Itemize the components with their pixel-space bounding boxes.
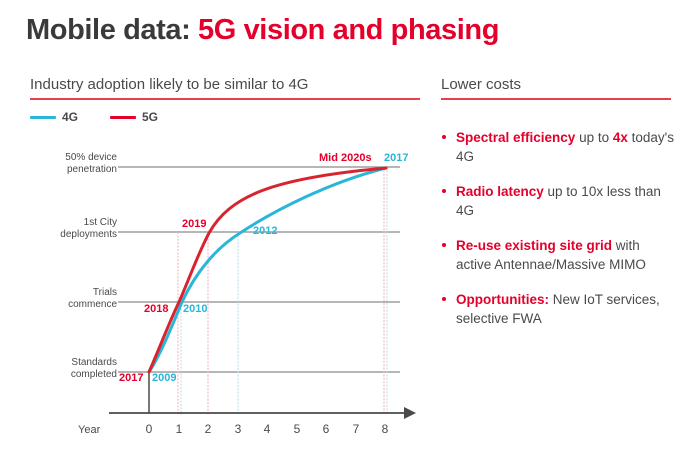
- slide-canvas: Mobile data: 5G vision and phasing Indus…: [0, 0, 680, 452]
- x-tick-1: 1: [169, 422, 189, 436]
- ylabel-trials-commence: Trials commence: [22, 287, 117, 311]
- ylabel-standards-completed: Standards completed: [22, 357, 117, 381]
- point-label-5g-2018: 2018: [144, 303, 168, 315]
- curve-5g: [149, 168, 386, 372]
- x-tick-7: 7: [346, 422, 366, 436]
- point-label-4g-2009: 2009: [152, 372, 176, 384]
- x-tick-4: 4: [257, 422, 277, 436]
- point-label-5g-2017: 2017: [119, 372, 143, 384]
- x-tick-5: 5: [287, 422, 307, 436]
- bullet-dot-icon: [442, 189, 446, 193]
- benefits-list: Spectral efficiency up to 4x today's 4G …: [441, 128, 677, 344]
- curve-4g: [149, 168, 386, 372]
- point-label-5g-2019: 2019: [182, 218, 206, 230]
- bullet-emphasis: 4x: [613, 130, 628, 145]
- x-tick-6: 6: [316, 422, 336, 436]
- x-axis-title: Year: [78, 424, 100, 436]
- point-label-4g-2012: 2012: [253, 225, 277, 237]
- bullet-dot-icon: [442, 135, 446, 139]
- bullet-lead: Opportunities:: [456, 292, 549, 307]
- point-label-4g-2010: 2010: [183, 303, 207, 315]
- bullet-lead: Re-use existing site grid: [456, 238, 612, 253]
- list-item: Opportunities: New IoT services, selecti…: [441, 290, 677, 328]
- list-item: Spectral efficiency up to 4x today's 4G: [441, 128, 677, 166]
- x-tick-3: 3: [228, 422, 248, 436]
- point-label-5g-mid-2020s: Mid 2020s: [319, 152, 372, 164]
- bullet-lead: Radio latency: [456, 184, 544, 199]
- point-label-4g-2017: 2017: [384, 152, 408, 164]
- bullet-lead: Spectral efficiency: [456, 130, 575, 145]
- list-item: Re-use existing site grid with active An…: [441, 236, 677, 274]
- x-axis-arrow-icon: [404, 407, 416, 419]
- x-tick-8: 8: [375, 422, 395, 436]
- ylabel-1st-city-deployments: 1st City deployments: [22, 217, 117, 241]
- bullet-dot-icon: [442, 297, 446, 301]
- bullet-rest: up to: [575, 130, 613, 145]
- list-item: Radio latency up to 10x less than 4G: [441, 182, 677, 220]
- x-tick-0: 0: [139, 422, 159, 436]
- x-tick-2: 2: [198, 422, 218, 436]
- ylabel-50pct-penetration: 50% device penetration: [22, 152, 117, 176]
- bullet-dot-icon: [442, 243, 446, 247]
